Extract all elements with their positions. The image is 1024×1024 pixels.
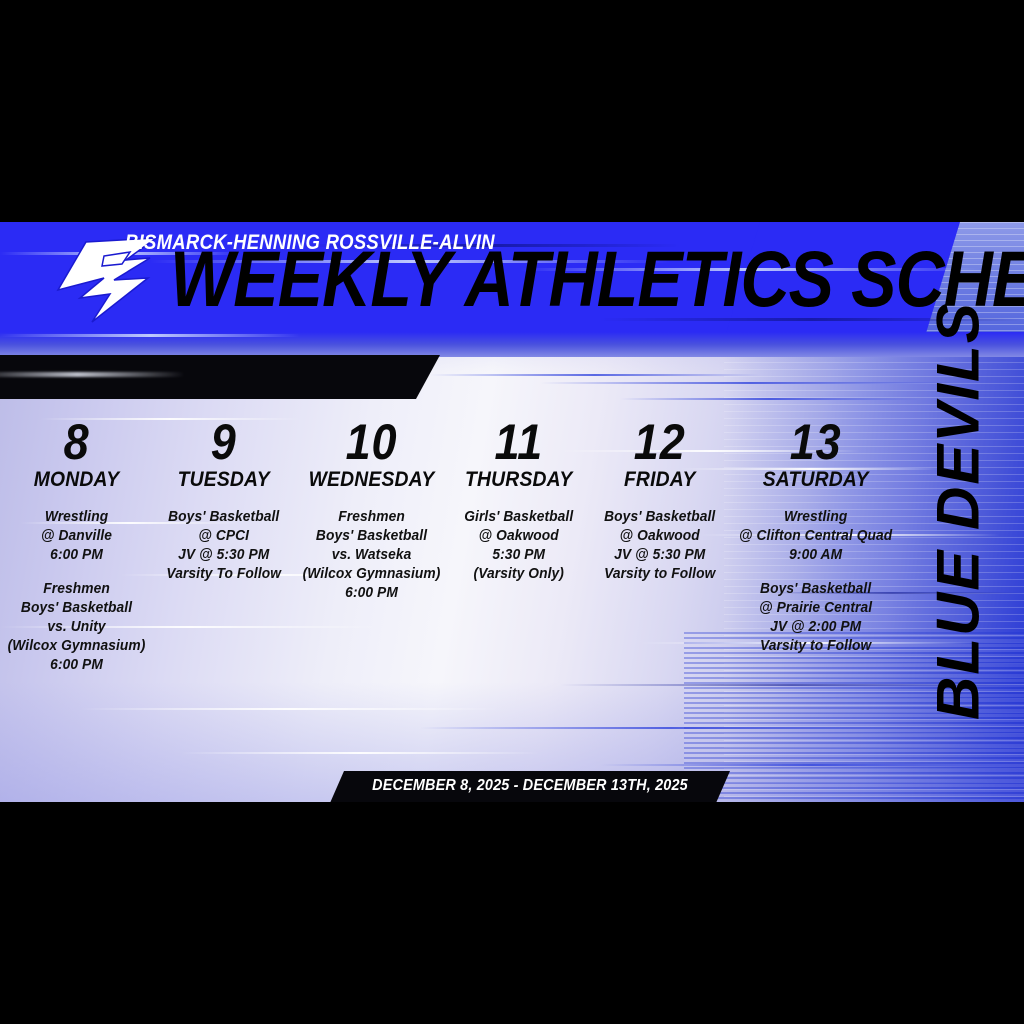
mascot-banner: BLUE DEVILS [898,222,1018,802]
event-entry: Wrestling@ Danville6:00 PM [4,508,149,565]
event-line: JV @ 2:00 PM [739,618,892,637]
event-list: Boys' Basketball@ OakwoodJV @ 5:30 PMVar… [593,508,726,584]
day-number: 13 [743,418,888,466]
event-line: Boys' Basketball [596,508,723,527]
event-list: Wrestling@ Danville6:00 PMFreshmenBoys' … [4,508,149,675]
event-line: Girls' Basketball [455,508,582,527]
event-line: vs. Watseka [302,546,440,565]
event-line: Varsity to Follow [596,565,723,584]
event-line: @ Prairie Central [739,599,892,618]
event-line: JV @ 5:30 PM [160,546,287,565]
event-entry: Girls' Basketball@ Oakwood5:30 PM(Varsit… [452,508,585,584]
day-number: 11 [458,418,578,466]
event-line: @ Clifton Central Quad [739,527,892,546]
date-range: DECEMBER 8, 2025 - DECEMBER 13TH, 2025 [350,777,710,795]
event-list: Wrestling@ Clifton Central Quad9:00 AMBo… [735,508,896,656]
event-entry: Wrestling@ Clifton Central Quad9:00 AM [735,508,896,565]
event-line: (Wilcox Gymnasium) [302,565,440,584]
schedule-columns: 8MONDAYWrestling@ Danville6:00 PMFreshme… [0,418,900,748]
day-column-friday: 12FRIDAYBoys' Basketball@ OakwoodJV @ 5:… [589,418,730,599]
day-number: 12 [600,418,720,466]
day-column-tuesday: 9TUESDAYBoys' Basketball@ CPCIJV @ 5:30 … [153,418,294,599]
event-line: Boys' Basketball [8,599,146,618]
event-list: Boys' Basketball@ CPCIJV @ 5:30 PMVarsit… [157,508,290,584]
event-line: Boys' Basketball [160,508,287,527]
day-column-monday: 8MONDAYWrestling@ Danville6:00 PMFreshme… [0,418,153,690]
event-line: JV @ 5:30 PM [596,546,723,565]
mascot-name: BLUE DEVILS [924,301,993,720]
school-name: BISMARCK-HENNING ROSSVILLE-ALVIN [125,231,495,255]
event-line: @ Oakwood [596,527,723,546]
event-line: @ Oakwood [455,527,582,546]
event-line: 6:00 PM [8,656,146,675]
event-entry: FreshmenBoys' Basketballvs. Watseka(Wilc… [299,508,444,603]
event-list: Girls' Basketball@ Oakwood5:30 PM(Varsit… [452,508,585,584]
event-line: 9:00 AM [739,546,892,565]
event-line: 6:00 PM [8,546,146,565]
event-line: Varsity To Follow [160,565,287,584]
school-name-bar [0,355,440,399]
schedule-poster: WEEKLY ATHLETICS SCHEDULE BISMARCK-HENNI… [0,0,1024,1024]
day-number: 8 [11,418,142,466]
event-entry: FreshmenBoys' Basketballvs. Unity(Wilcox… [4,580,149,675]
letterbox-bottom [0,802,1024,1024]
event-line: Boys' Basketball [302,527,440,546]
event-line: 6:00 PM [302,584,440,603]
date-range-bar: DECEMBER 8, 2025 - DECEMBER 13TH, 2025 [330,771,730,802]
event-line: Freshmen [8,580,146,599]
day-name: WEDNESDAY [304,468,437,492]
day-column-saturday: 13SATURDAYWrestling@ Clifton Central Qua… [731,418,900,671]
event-line: @ CPCI [160,527,287,546]
day-number: 9 [164,418,284,466]
letterbox-top [0,0,1024,222]
day-column-thursday: 11THURSDAYGirls' Basketball@ Oakwood5:30… [448,418,589,599]
day-name: MONDAY [10,468,143,492]
day-name: FRIDAY [598,468,721,492]
day-number: 10 [306,418,437,466]
event-line: Freshmen [302,508,440,527]
event-line: 5:30 PM [455,546,582,565]
event-line: Wrestling [8,508,146,527]
day-name: SATURDAY [741,468,889,492]
event-line: @ Danville [8,527,146,546]
subbar-light-streak [0,372,185,377]
event-line: (Wilcox Gymnasium) [8,637,146,656]
event-entry: Boys' Basketball@ Prairie CentralJV @ 2:… [735,580,896,656]
event-entry: Boys' Basketball@ CPCIJV @ 5:30 PMVarsit… [157,508,290,584]
event-entry: Boys' Basketball@ OakwoodJV @ 5:30 PMVar… [593,508,726,584]
day-column-wednesday: 10WEDNESDAYFreshmenBoys' Basketballvs. W… [295,418,448,618]
event-line: Wrestling [739,508,892,527]
event-line: vs. Unity [8,618,146,637]
day-name: THURSDAY [457,468,580,492]
event-list: FreshmenBoys' Basketballvs. Watseka(Wilc… [299,508,444,603]
graphic-canvas: WEEKLY ATHLETICS SCHEDULE BISMARCK-HENNI… [0,222,1024,802]
event-line: Boys' Basketball [739,580,892,599]
event-line: (Varsity Only) [455,565,582,584]
event-line: Varsity to Follow [739,637,892,656]
day-name: TUESDAY [162,468,285,492]
